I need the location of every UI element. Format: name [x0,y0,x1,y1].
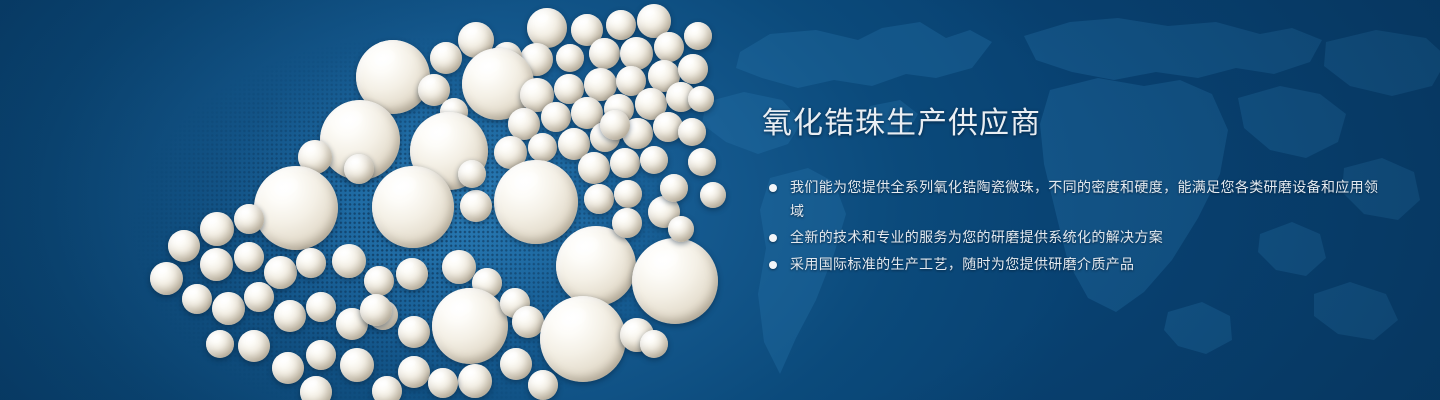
list-item: 采用国际标准的生产工艺，随时为您提供研磨介质产品 [762,253,1382,277]
list-item: 全新的技术和专业的服务为您的研磨提供系统化的解决方案 [762,226,1382,250]
list-item-text: 采用国际标准的生产工艺，随时为您提供研磨介质产品 [790,253,1382,277]
list-item-text: 我们能为您提供全系列氧化锆陶瓷微珠，不同的密度和硬度，能满足您各类研磨设备和应用… [790,176,1382,223]
banner-content: 氧化锆珠生产供应商 我们能为您提供全系列氧化锆陶瓷微珠，不同的密度和硬度，能满足… [762,104,1382,279]
banner-headline: 氧化锆珠生产供应商 [762,104,1382,144]
list-item: 我们能为您提供全系列氧化锆陶瓷微珠，不同的密度和硬度，能满足您各类研磨设备和应用… [762,176,1382,223]
bullet-dot-icon [769,234,777,242]
hero-banner: 氧化锆珠生产供应商 我们能为您提供全系列氧化锆陶瓷微珠，不同的密度和硬度，能满足… [0,0,1440,400]
bullet-dot-icon [769,184,777,192]
bullet-dot-icon [769,261,777,269]
list-item-text: 全新的技术和专业的服务为您的研磨提供系统化的解决方案 [790,226,1382,250]
feature-list: 我们能为您提供全系列氧化锆陶瓷微珠，不同的密度和硬度，能满足您各类研磨设备和应用… [762,176,1382,276]
